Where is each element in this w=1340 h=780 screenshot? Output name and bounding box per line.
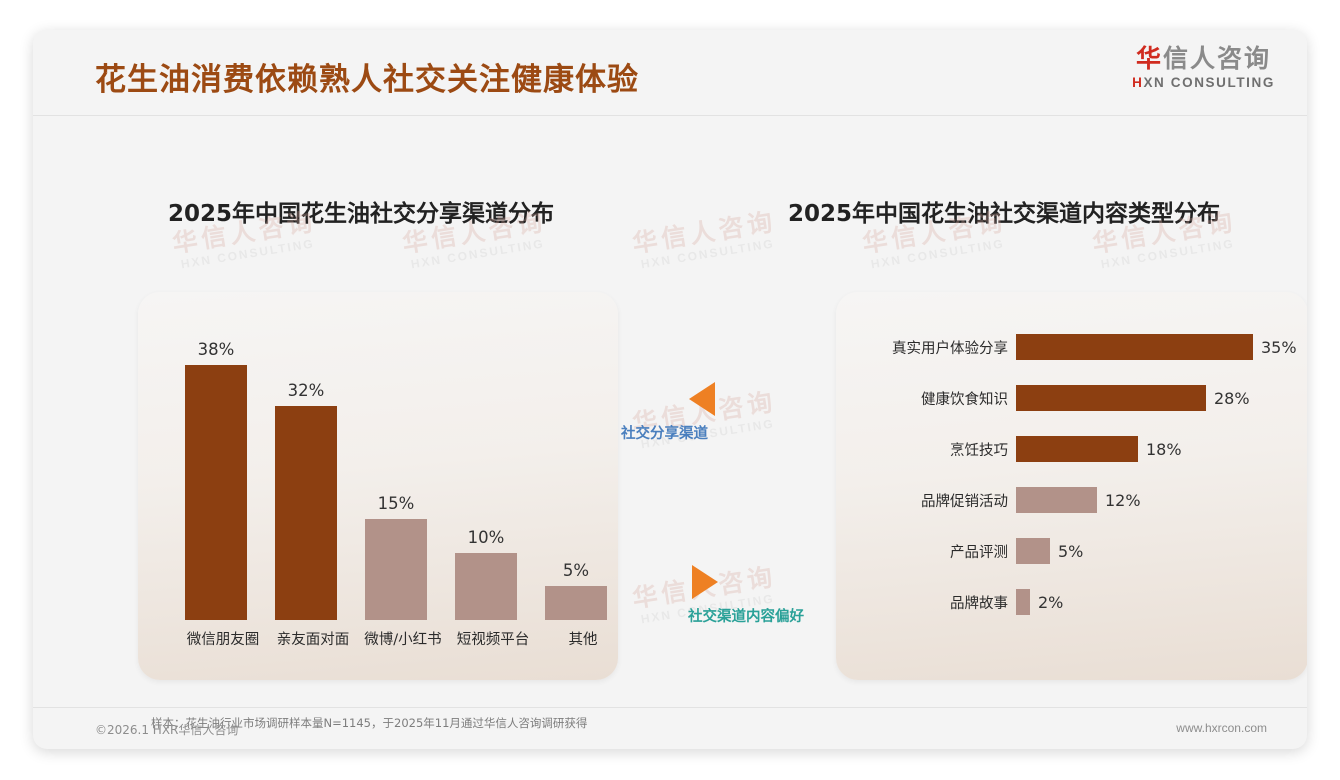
horizontal-bar[interactable] — [1016, 436, 1138, 462]
annotation-label-0: 社交分享渠道 — [621, 422, 715, 443]
bar-value-label: 35% — [1261, 330, 1297, 364]
bar-row[interactable]: 健康饮食知识28% — [836, 381, 1307, 415]
bar-category-label: 微博/小红书 — [352, 628, 454, 649]
triangle-left-icon — [689, 382, 715, 416]
page-title: 花生油消费依赖熟人社交关注健康体验 — [95, 54, 639, 99]
company-logo: 华信人咨询 HXN CONSULTING — [1132, 46, 1275, 90]
watermark-en: HXN CONSULTING — [405, 237, 550, 272]
vertical-bar[interactable] — [545, 586, 607, 620]
bar-group[interactable]: 5%其他 — [545, 586, 621, 620]
bar-row[interactable]: 品牌促销活动12% — [836, 483, 1307, 517]
bar-category-label: 品牌故事 — [836, 585, 1008, 619]
bar-value-label: 18% — [1146, 432, 1182, 466]
bar-row[interactable]: 品牌故事2% — [836, 585, 1307, 619]
horizontal-bar[interactable] — [1016, 538, 1050, 564]
bar-category-label: 真实用户体验分享 — [836, 330, 1008, 364]
copyright-text: ©2026.1 HXR华信人咨询 — [95, 721, 238, 738]
bar-value-label: 32% — [275, 381, 337, 400]
bar-group[interactable]: 15%微博/小红书 — [365, 519, 441, 620]
bar-value-label: 5% — [1058, 534, 1083, 568]
annotation-social-share-channel: 社交分享渠道 — [621, 382, 715, 443]
bar-group[interactable]: 38%微信朋友圈 — [185, 365, 261, 620]
vertical-bar[interactable] — [365, 519, 427, 620]
bar-category-label: 产品评测 — [836, 534, 1008, 568]
bar-category-label: 品牌促销活动 — [836, 483, 1008, 517]
bar-category-label: 微信朋友圈 — [172, 628, 274, 649]
social-share-channel-chart: 38%微信朋友圈32%亲友面对面15%微博/小红书10%短视频平台5%其他 — [138, 292, 618, 680]
bar-group[interactable]: 10%短视频平台 — [455, 553, 531, 620]
bar-row[interactable]: 产品评测5% — [836, 534, 1307, 568]
logo-en: HXN CONSULTING — [1132, 76, 1275, 90]
bar-value-label: 28% — [1214, 381, 1250, 415]
bar-value-label: 5% — [545, 561, 607, 580]
vertical-bar[interactable] — [455, 553, 517, 620]
bar-value-label: 10% — [455, 528, 517, 547]
bar-row[interactable]: 真实用户体验分享35% — [836, 330, 1307, 364]
content-type-chart: 真实用户体验分享35%健康饮食知识28%烹饪技巧18%品牌促销活动12%产品评测… — [836, 292, 1307, 680]
bar-category-label: 烹饪技巧 — [836, 432, 1008, 466]
logo-en-rest: XN CONSULTING — [1143, 75, 1275, 90]
bar-value-label: 2% — [1038, 585, 1063, 619]
website-link[interactable]: www.hxrcon.com — [1176, 721, 1267, 735]
bar-value-label: 12% — [1105, 483, 1141, 517]
watermark-en: HXN CONSULTING — [635, 237, 780, 272]
annotation-content-preference: 社交渠道内容偏好 — [688, 565, 804, 626]
watermark: 华信人咨询HXN CONSULTING — [631, 209, 780, 271]
slide-footer: ©2026.1 HXR华信人咨询 www.hxrcon.com — [33, 707, 1307, 749]
slide-card: 花生油消费依赖熟人社交关注健康体验 华信人咨询 HXN CONSULTING 2… — [33, 30, 1307, 749]
bar-category-label: 健康饮食知识 — [836, 381, 1008, 415]
logo-cn-highlight: 华 — [1136, 44, 1163, 73]
watermark-en: HXN CONSULTING — [175, 237, 320, 272]
watermark-cn: 华信人咨询 — [631, 209, 778, 256]
right-chart-title: 2025年中国花生油社交渠道内容类型分布 — [788, 194, 1220, 228]
horizontal-bar[interactable] — [1016, 487, 1097, 513]
horizontal-bar[interactable] — [1016, 334, 1253, 360]
horizontal-bar[interactable] — [1016, 589, 1030, 615]
watermark-en: HXN CONSULTING — [1095, 237, 1240, 272]
logo-cn-rest: 信人咨询 — [1163, 44, 1271, 73]
left-chart-title: 2025年中国花生油社交分享渠道分布 — [168, 194, 554, 228]
watermark-en: HXN CONSULTING — [865, 237, 1010, 272]
bar-value-label: 38% — [185, 340, 247, 359]
slide-header: 花生油消费依赖熟人社交关注健康体验 华信人咨询 HXN CONSULTING — [33, 30, 1307, 116]
logo-cn: 华信人咨询 — [1132, 46, 1275, 71]
bar-category-label: 亲友面对面 — [262, 628, 364, 649]
bar-category-label: 短视频平台 — [442, 628, 544, 649]
bar-row[interactable]: 烹饪技巧18% — [836, 432, 1307, 466]
annotation-label-1: 社交渠道内容偏好 — [688, 605, 804, 626]
horizontal-bar[interactable] — [1016, 385, 1206, 411]
bar-category-label: 其他 — [532, 628, 634, 649]
bar-value-label: 15% — [365, 494, 427, 513]
triangle-right-icon — [692, 565, 718, 599]
vertical-bar[interactable] — [185, 365, 247, 620]
logo-en-highlight: H — [1132, 75, 1143, 90]
vertical-bar[interactable] — [275, 406, 337, 620]
bar-group[interactable]: 32%亲友面对面 — [275, 406, 351, 620]
